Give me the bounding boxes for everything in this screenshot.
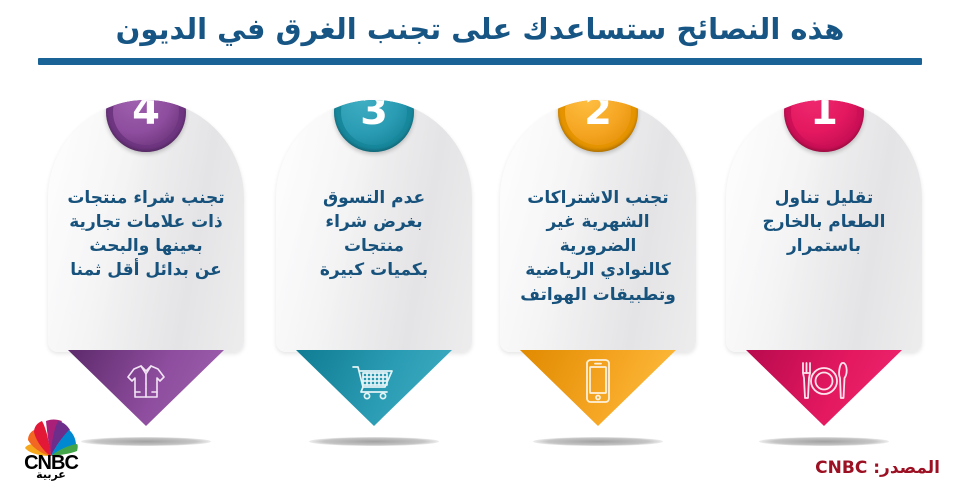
pin-ground-shadow-3	[309, 437, 439, 446]
tip-card-2[interactable]: 2 تجنب الاشتراكات الشهرية غير الضرورية ك…	[500, 100, 696, 350]
tip-text-4: تجنب شراء منتجات ذات علامات تجارية بعينه…	[48, 186, 244, 283]
number-badge-1: 1	[784, 100, 864, 152]
number-badge-3: 3	[334, 100, 414, 152]
tip-text-1: تقليل تناول الطعام بالخارج باستمرار	[726, 186, 922, 258]
pin-ground-shadow-4	[81, 437, 211, 446]
tip-card-body-2: 2 تجنب الاشتراكات الشهرية غير الضرورية ك…	[500, 100, 696, 352]
pin-ground-shadow-1	[759, 437, 889, 446]
source-label: المصدر: CNBC	[815, 458, 940, 478]
tip-card-body-3: 3 عدم التسوق بغرض شراء منتجات بكميات كبي…	[276, 100, 472, 352]
tip-card-3[interactable]: 3 عدم التسوق بغرض شراء منتجات بكميات كبي…	[276, 100, 472, 350]
shopping-cart-icon	[276, 358, 472, 404]
badge-number-2: 2	[584, 100, 612, 134]
smartphone-icon	[500, 358, 696, 404]
tip-card-body-1: 1 تقليل تناول الطعام بالخارج باستمرار	[726, 100, 922, 352]
badge-number-3: 3	[360, 100, 388, 134]
pin-ground-shadow-2	[533, 437, 663, 446]
tip-card-4[interactable]: 4 تجنب شراء منتجات ذات علامات تجارية بعي…	[48, 100, 244, 350]
infographic-canvas: هذه النصائح ستساعدك على تجنب الغرق في ال…	[0, 0, 960, 487]
tip-card-body-4: 4 تجنب شراء منتجات ذات علامات تجارية بعي…	[48, 100, 244, 352]
tip-card-1[interactable]: 1 تقليل تناول الطعام بالخارج باستمرار	[726, 100, 922, 350]
number-badge-2: 2	[558, 100, 638, 152]
tip-text-2: تجنب الاشتراكات الشهرية غير الضرورية كال…	[500, 186, 696, 307]
shirt-icon	[48, 358, 244, 404]
badge-number-4: 4	[132, 100, 160, 134]
page-header: هذه النصائح ستساعدك على تجنب الغرق في ال…	[0, 10, 960, 49]
number-badge-4: 4	[106, 100, 186, 152]
cnbc-arabia-subtext: عربية	[12, 468, 90, 481]
tip-text-3: عدم التسوق بغرض شراء منتجات بكميات كبيرة	[276, 186, 472, 283]
plate-cutlery-icon	[726, 358, 922, 404]
title-underline-rule	[38, 58, 922, 65]
page-title: هذه النصائح ستساعدك على تجنب الغرق في ال…	[0, 10, 960, 49]
badge-number-1: 1	[810, 100, 838, 134]
